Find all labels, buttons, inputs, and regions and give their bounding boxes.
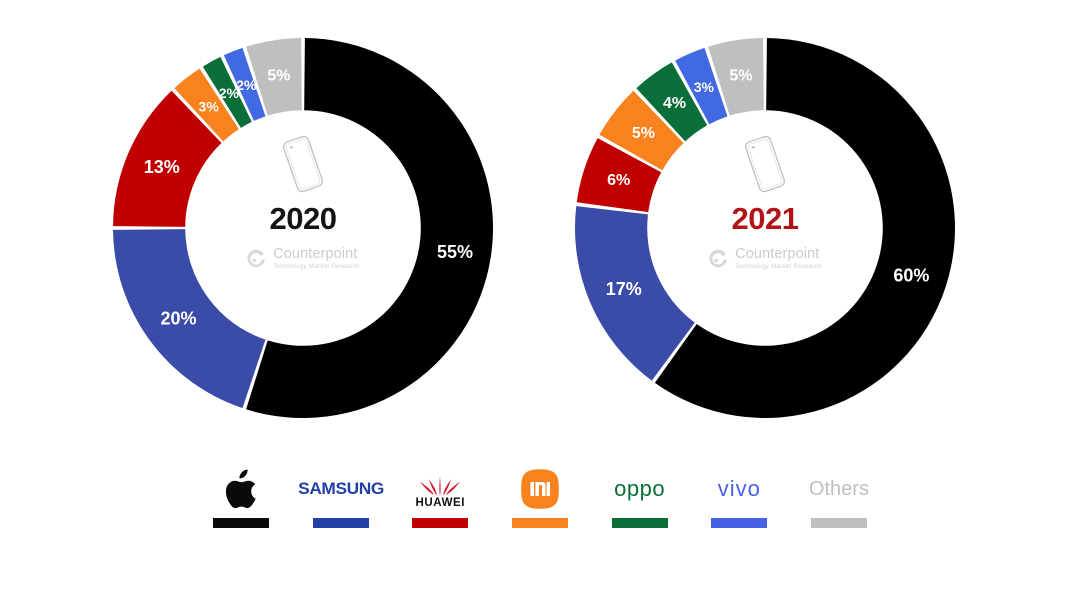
donut-chart-2020: 55%20%13%3%2%2%5% 2020 Counterpoint: [113, 38, 493, 418]
legend-color-bar-oppo: [612, 518, 668, 528]
samsung-wordmark: SAMSUNG: [298, 479, 384, 499]
huawei-logo-icon: [419, 469, 461, 497]
donut-chart-2021: 60%17%6%5%4%3%5% 2021 Counterpoint: [575, 38, 955, 418]
chart-canvas: 55%20%13%3%2%2%5% 2020 Counterpoint: [0, 0, 1067, 613]
legend-color-bar-xiaomi: [512, 518, 568, 528]
legend-item-others[interactable]: Others: [793, 456, 885, 528]
oppo-wordmark: oppo: [614, 476, 665, 502]
samsung-logo-wrap: SAMSUNG: [299, 466, 383, 512]
donut-svg-2021: 60%17%6%5%4%3%5%: [575, 38, 955, 418]
legend: SAMSUNG HUAWEI: [195, 448, 885, 528]
slice-label-oppo: 4%: [663, 95, 686, 112]
legend-color-bar-huawei: [412, 518, 468, 528]
legend-item-apple[interactable]: [195, 456, 287, 528]
slice-label-samsung: 20%: [160, 308, 196, 328]
donut-slices-2020: [113, 38, 493, 418]
legend-color-bar-apple: [213, 518, 269, 528]
legend-color-bar-vivo: [711, 518, 767, 528]
oppo-logo-wrap: oppo: [614, 466, 665, 512]
legend-color-bar-others: [811, 518, 867, 528]
slice-label-apple: 55%: [437, 242, 473, 262]
xiaomi-logo-icon: [520, 468, 560, 510]
xiaomi-logo-wrap: [520, 466, 560, 512]
slice-label-xiaomi: 3%: [199, 98, 220, 114]
others-label: Others: [809, 478, 869, 501]
slice-label-vivo: 3%: [694, 79, 715, 95]
legend-item-vivo[interactable]: vivo: [693, 456, 785, 528]
others-label-wrap: Others: [809, 466, 869, 512]
donut-svg-2020: 55%20%13%3%2%2%5%: [113, 38, 493, 418]
apple-logo-icon: [225, 469, 258, 509]
legend-item-samsung[interactable]: SAMSUNG: [295, 456, 387, 528]
huawei-logo-wrap: HUAWEI: [416, 466, 466, 512]
slice-label-vivo: 2%: [236, 77, 257, 93]
slice-label-others: 5%: [267, 67, 290, 84]
slice-label-samsung: 17%: [606, 279, 642, 299]
slice-label-huawei: 6%: [607, 172, 630, 189]
legend-color-bar-samsung: [313, 518, 369, 528]
huawei-wordmark: HUAWEI: [416, 498, 466, 510]
legend-item-oppo[interactable]: oppo: [594, 456, 686, 528]
slice-label-huawei: 13%: [144, 157, 180, 177]
slice-label-others: 5%: [729, 67, 752, 84]
legend-item-huawei[interactable]: HUAWEI: [394, 456, 486, 528]
donut-slices-2021: [575, 38, 955, 418]
vivo-wordmark: vivo: [718, 476, 761, 502]
slice-label-xiaomi: 5%: [632, 125, 655, 142]
apple-logo-wrap: [225, 466, 258, 512]
slice-label-apple: 60%: [893, 266, 929, 286]
vivo-logo-wrap: vivo: [718, 466, 761, 512]
legend-item-xiaomi[interactable]: [494, 456, 586, 528]
